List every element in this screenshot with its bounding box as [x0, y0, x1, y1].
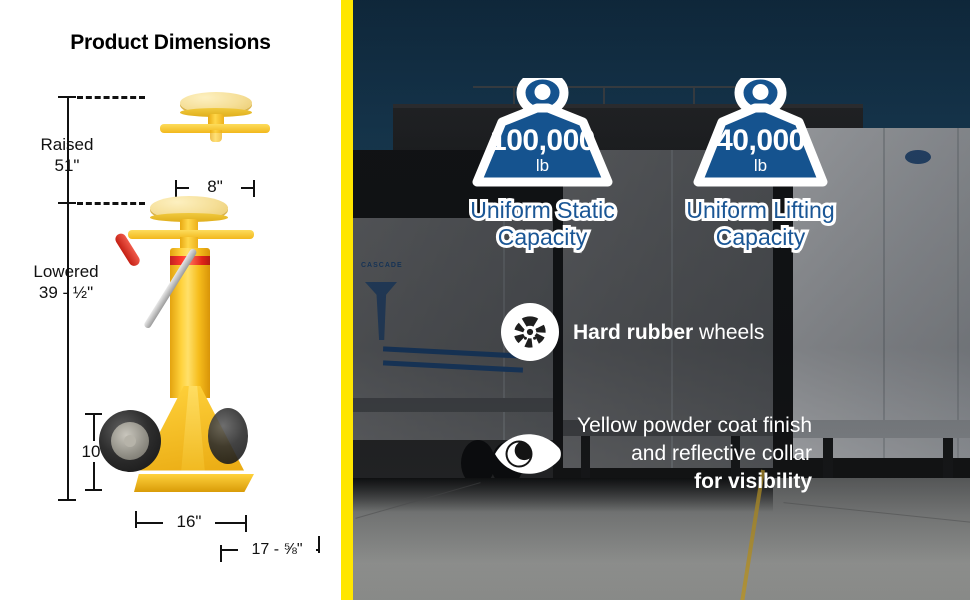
feature-visibility: Yellow powder coat finish and reflective… — [493, 412, 812, 496]
dimension-label-base17: 17 - ⅝" — [238, 539, 316, 560]
trailer-seam — [883, 128, 885, 458]
yellow-divider — [341, 0, 353, 600]
product-photo-panel: CASCADE — [353, 0, 970, 600]
feature-label-strong: Hard rubber — [573, 321, 693, 344]
dimension-label-cap-width: 8" — [189, 176, 241, 197]
product-dimensions-panel: Product Dimensions Raised 51" Lowered 39… — [0, 0, 341, 600]
trailer-skirt — [353, 398, 553, 412]
feature-label-rest: wheels — [693, 321, 764, 344]
leader-raised — [77, 96, 145, 99]
feature-line-3: for visibility — [577, 468, 812, 496]
cap-width-tick-right — [253, 180, 255, 197]
cap-width-tick-left — [175, 180, 177, 197]
badge-value: 100,000 — [445, 124, 640, 158]
badge-caption: Uniform Static Capacity — [445, 197, 640, 251]
badge-unit: lb — [668, 156, 853, 176]
badge-value: 40,000 — [668, 124, 853, 158]
trailer-skirt — [793, 420, 970, 438]
feature-line-2: and reflective collar — [577, 440, 812, 468]
feature-line-1: Yellow powder coat finish — [577, 412, 812, 440]
base17-tick-right — [318, 536, 320, 553]
trailer-badge — [905, 150, 931, 164]
page-title: Product Dimensions — [0, 31, 341, 55]
tick-middle — [58, 202, 76, 204]
base16-tick-right — [245, 515, 247, 532]
trailer-logo: CASCADE — [361, 262, 403, 269]
tick-bottom — [58, 499, 76, 501]
badge-unit: lb — [445, 156, 640, 176]
badge-lifting-capacity: 40,000 lb Uniform Lifting Capacity — [668, 78, 853, 251]
badge-caption: Uniform Lifting Capacity — [668, 197, 853, 251]
badge-static-capacity: 100,000 lb Uniform Static Capacity — [445, 78, 640, 251]
feature-hard-rubber-wheels: Hard rubber wheels — [501, 303, 764, 361]
eye-icon — [493, 423, 567, 485]
wheel-icon — [501, 303, 559, 361]
feature-label: Hard rubber wheels — [573, 319, 764, 346]
jack-raised-cap-illustration — [160, 92, 270, 140]
dimension-label-raised: Raised 51" — [8, 134, 126, 176]
trailer-seam — [957, 128, 959, 458]
base17-tick-left — [220, 545, 222, 562]
tick-top — [58, 96, 76, 98]
infographic-root: Product Dimensions Raised 51" Lowered 39… — [0, 0, 970, 600]
jack-lowered-illustration — [100, 196, 280, 516]
feature-label: Yellow powder coat finish and reflective… — [577, 412, 812, 496]
